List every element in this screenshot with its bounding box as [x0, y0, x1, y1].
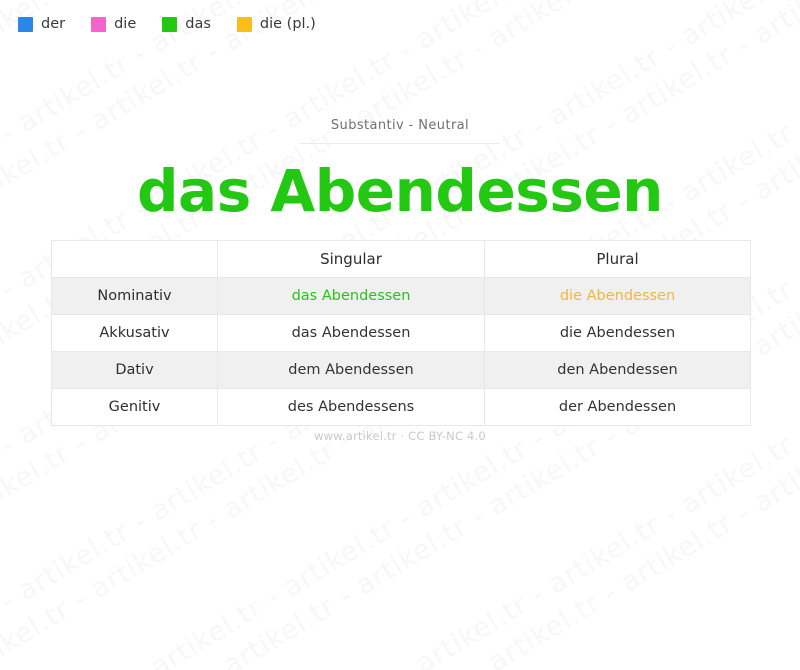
legend-item-label: die (pl.) — [260, 17, 316, 32]
column-header-case — [52, 241, 218, 278]
column-header-plural: Plural — [485, 241, 751, 278]
table-row: Dativdem Abendessenden Abendessen — [52, 352, 751, 389]
color-swatch-icon — [162, 17, 177, 32]
plural-form-cell: die Abendessen — [485, 315, 751, 352]
color-swatch-icon — [91, 17, 106, 32]
legend-item-label: das — [185, 17, 211, 32]
subtitle-divider — [300, 143, 500, 144]
table-header-row: Singular Plural — [52, 241, 751, 278]
table-body: Nominativdas Abendessendie AbendessenAkk… — [52, 278, 751, 426]
legend-item-die: die — [91, 17, 136, 32]
table-row: Genitivdes Abendessensder Abendessen — [52, 389, 751, 426]
case-label-cell: Dativ — [52, 352, 218, 389]
legend-item-label: die — [114, 17, 136, 32]
singular-form-cell: dem Abendessen — [218, 352, 485, 389]
declension-table: Singular Plural Nominativdas Abendessend… — [51, 240, 751, 426]
plural-form-cell: die Abendessen — [485, 278, 751, 315]
table-header: Singular Plural — [52, 241, 751, 278]
singular-form-cell: das Abendessen — [218, 315, 485, 352]
legend-item-label: der — [41, 17, 65, 32]
page-title: das Abendessen — [0, 160, 800, 224]
plural-form-cell: der Abendessen — [485, 389, 751, 426]
color-swatch-icon — [237, 17, 252, 32]
footer-attribution: www.artikel.tr · CC BY-NC 4.0 — [0, 429, 800, 443]
table-row: Akkusativdas Abendessendie Abendessen — [52, 315, 751, 352]
declension-card: derdiedasdie (pl.) Substantiv - Neutral … — [0, 0, 800, 533]
article-color-legend: derdiedasdie (pl.) — [18, 17, 316, 32]
case-label-cell: Akkusativ — [52, 315, 218, 352]
column-header-singular: Singular — [218, 241, 485, 278]
legend-item-das: das — [162, 17, 211, 32]
singular-form-cell: des Abendessens — [218, 389, 485, 426]
plural-form-cell: den Abendessen — [485, 352, 751, 389]
legend-item-diepl-plural: die (pl.) — [237, 17, 316, 32]
table-row: Nominativdas Abendessendie Abendessen — [52, 278, 751, 315]
case-label-cell: Genitiv — [52, 389, 218, 426]
singular-form-cell: das Abendessen — [218, 278, 485, 315]
case-label-cell: Nominativ — [52, 278, 218, 315]
word-type-subtitle: Substantiv - Neutral — [0, 118, 800, 133]
color-swatch-icon — [18, 17, 33, 32]
legend-item-der: der — [18, 17, 65, 32]
